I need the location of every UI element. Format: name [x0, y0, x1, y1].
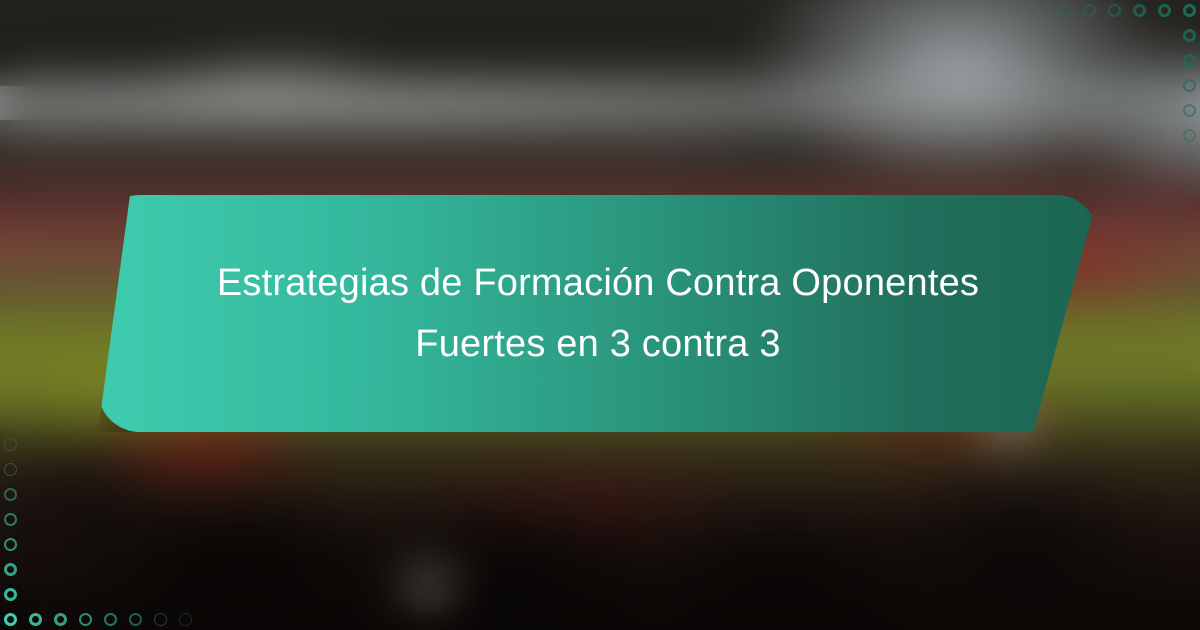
title-line-2: Fuertes en 3 contra 3 — [415, 322, 780, 366]
title-line-1: Estrategias de Formación Contra Oponente… — [217, 261, 979, 305]
title-card: Estrategias de Formación Contra Oponente… — [98, 195, 1098, 432]
title-card-canvas: Estrategias de Formación Contra Oponente… — [0, 0, 1200, 630]
title-card-content: Estrategias de Formación Contra Oponente… — [98, 195, 1098, 432]
